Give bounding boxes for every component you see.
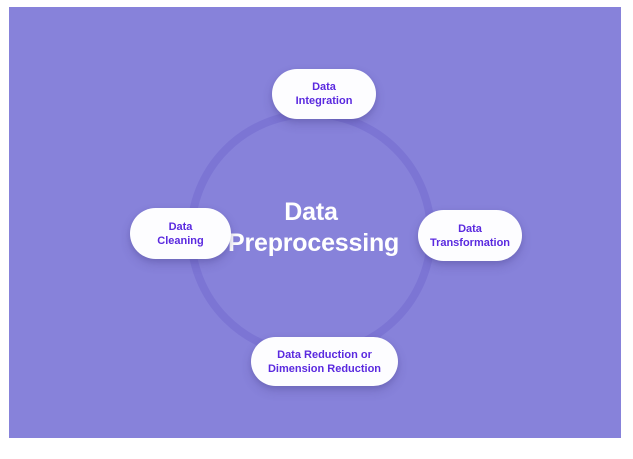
node-data-reduction-line2: Dimension Reduction	[268, 362, 381, 376]
node-data-reduction-label: Data Reduction or Dimension Reduction	[268, 348, 381, 376]
node-data-transformation-label: Data Transformation	[430, 222, 510, 250]
node-data-cleaning-line2: Cleaning	[157, 234, 203, 248]
node-data-cleaning-line1: Data	[157, 220, 203, 234]
node-data-reduction-line1: Data Reduction or	[268, 348, 381, 362]
node-data-integration[interactable]: Data Integration	[272, 69, 376, 119]
node-data-transformation-line1: Data	[430, 222, 510, 236]
node-data-integration-label: Data Integration	[296, 80, 353, 108]
center-label-line1: Data	[228, 197, 394, 228]
node-data-cleaning-label: Data Cleaning	[157, 220, 203, 248]
diagram-canvas: Data Preprocessing Data Integration Data…	[9, 7, 621, 438]
center-label-line2: Preprocessing	[228, 228, 394, 259]
diagram-root: Data Preprocessing Data Integration Data…	[0, 0, 633, 459]
center-label: Data Preprocessing	[228, 197, 394, 259]
node-data-reduction[interactable]: Data Reduction or Dimension Reduction	[251, 337, 398, 386]
node-data-integration-line2: Integration	[296, 94, 353, 108]
node-data-transformation-line2: Transformation	[430, 236, 510, 250]
node-data-integration-line1: Data	[296, 80, 353, 94]
node-data-transformation[interactable]: Data Transformation	[418, 210, 522, 261]
node-data-cleaning[interactable]: Data Cleaning	[130, 208, 231, 259]
